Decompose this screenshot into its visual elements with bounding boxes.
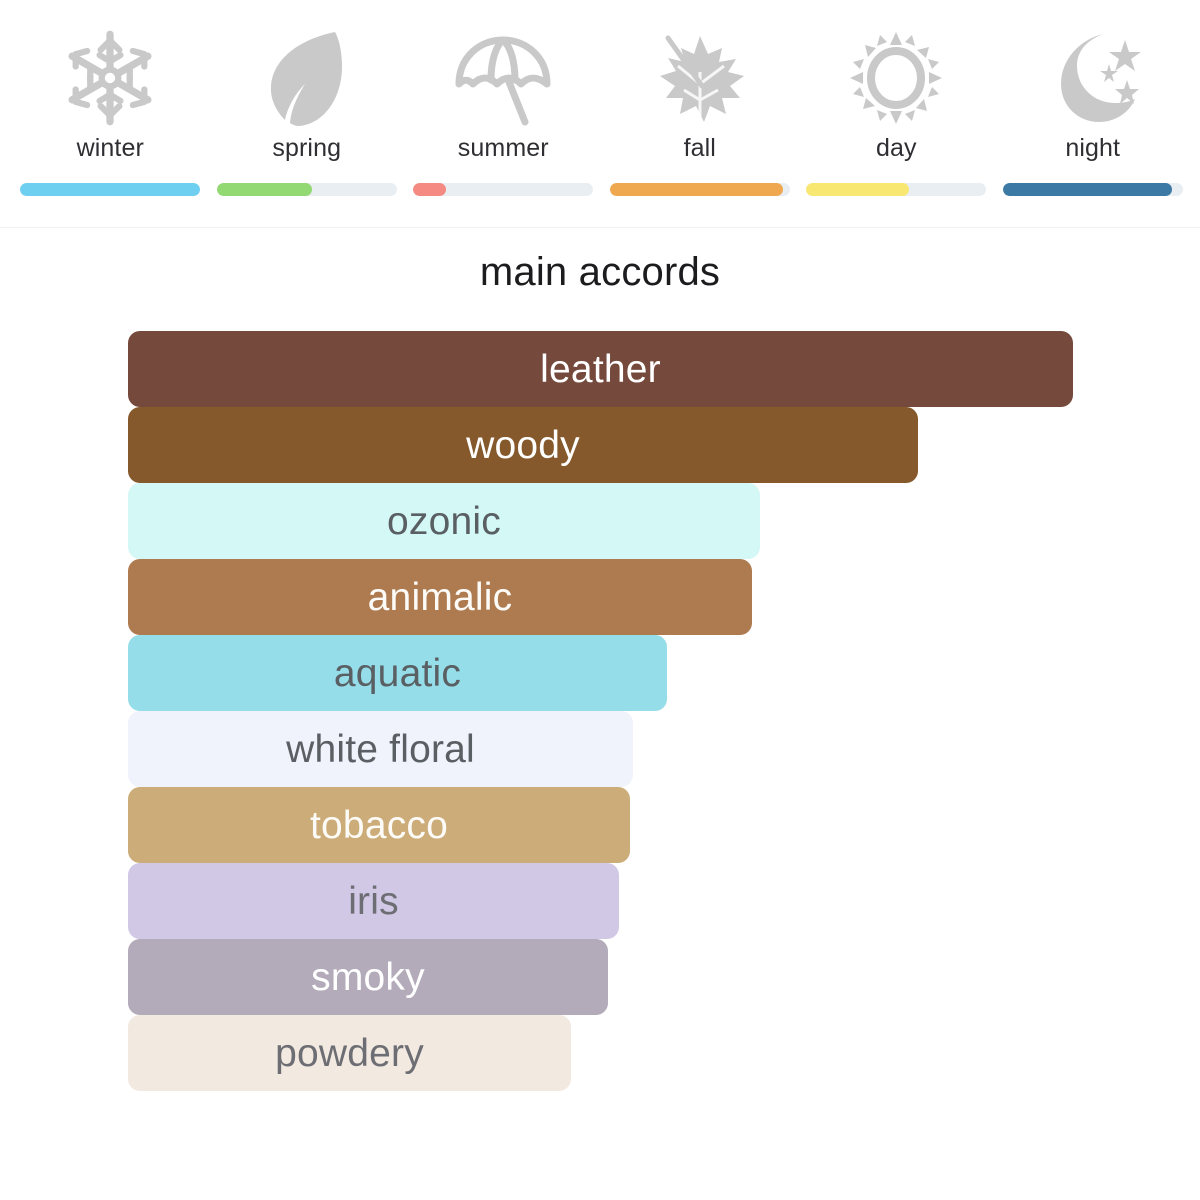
accord-bar[interactable]: animalic [128,559,752,635]
accord-label: white floral [286,730,475,769]
meter-cell-day[interactable] [798,183,995,196]
sun-icon [840,26,952,130]
accord-label: tobacco [310,806,448,845]
accord-bar[interactable]: ozonic [128,483,760,559]
season-label: day [876,136,917,161]
season-meter-track-spring [217,183,397,196]
accord-bar[interactable]: leather [128,331,1073,407]
season-meter-fill-day [806,183,909,196]
season-meter-fill-winter [20,183,200,196]
accord-label: smoky [311,958,425,997]
accord-bar[interactable]: aquatic [128,635,667,711]
umbrella-icon [447,26,559,130]
season-cell-day[interactable]: day [798,0,995,161]
accord-bar[interactable]: woody [128,407,918,483]
season-meter-track-winter [20,183,200,196]
season-meter-track-summer [413,183,593,196]
season-meter-fill-fall [610,183,783,196]
season-icons-row: winter spring summer [0,0,1200,161]
meter-cell-winter[interactable] [12,183,209,196]
snowflake-icon [54,26,166,130]
season-cell-winter[interactable]: winter [12,0,209,161]
season-meter-fill-summer [413,183,445,196]
accord-label: iris [348,882,399,921]
accord-bar[interactable]: white floral [128,711,633,787]
season-meter-track-night [1003,183,1183,196]
season-label: winter [77,136,144,161]
season-cell-spring[interactable]: spring [209,0,406,161]
season-meter-track-day [806,183,986,196]
season-meter-track-fall [610,183,790,196]
season-meter-fill-night [1003,183,1172,196]
season-cell-fall[interactable]: fall [602,0,799,161]
page-title: main accords [0,252,1200,292]
season-label: summer [458,136,549,161]
accord-label: aquatic [334,654,461,693]
accord-bar[interactable]: smoky [128,939,608,1015]
meter-cell-fall[interactable] [602,183,799,196]
accords-bar-chart: leatherwoodyozonicanimalicaquaticwhite f… [128,331,1088,1091]
season-meter-fill-spring [217,183,312,196]
accord-bar[interactable]: powdery [128,1015,571,1091]
season-meters-row [0,183,1200,196]
moon-stars-icon [1037,26,1149,130]
accord-bar[interactable]: tobacco [128,787,630,863]
meter-cell-spring[interactable] [209,183,406,196]
season-cell-summer[interactable]: summer [405,0,602,161]
maple-leaf-icon [644,26,756,130]
season-label: spring [272,136,341,161]
leaf-icon [251,26,363,130]
season-label: night [1065,136,1120,161]
accord-label: animalic [368,578,513,617]
accord-label: leather [540,350,661,389]
accord-label: woody [466,426,580,465]
main-accords-section: main accords leatherwoodyozonicanimalica… [0,228,1200,1200]
accord-bar[interactable]: iris [128,863,619,939]
meter-cell-summer[interactable] [405,183,602,196]
accord-label: ozonic [387,502,501,541]
seasons-panel: winter spring summer [0,0,1200,228]
season-label: fall [684,136,716,161]
meter-cell-night[interactable] [995,183,1192,196]
accord-label: powdery [275,1034,424,1073]
season-cell-night[interactable]: night [995,0,1192,161]
